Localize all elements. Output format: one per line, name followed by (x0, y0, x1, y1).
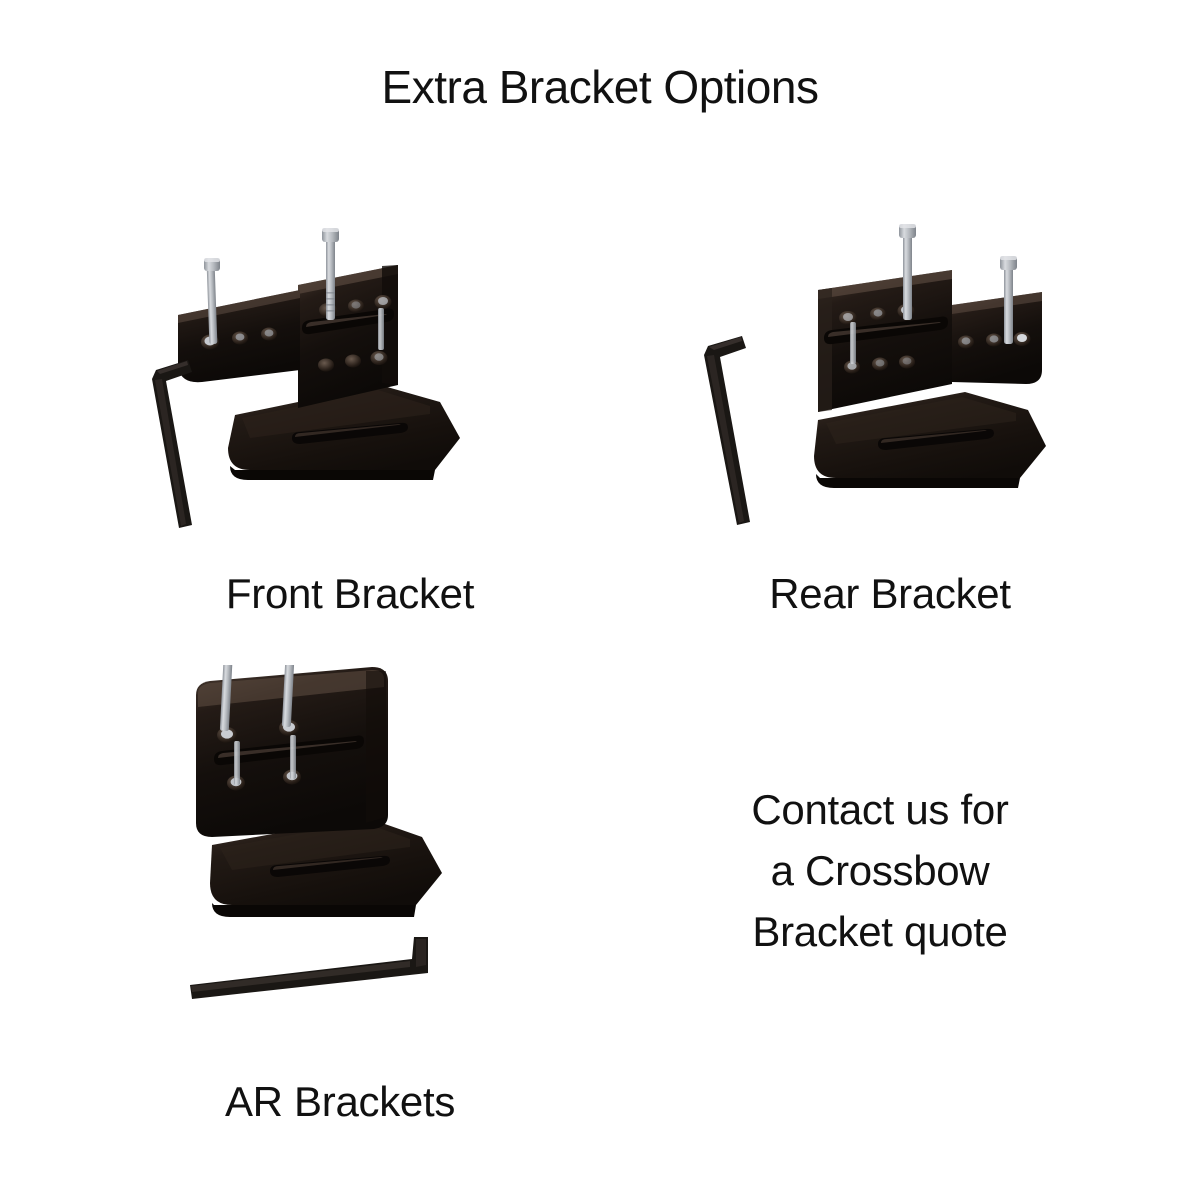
product-image-rear-bracket (690, 170, 1090, 570)
product-image-ar-brackets (160, 665, 520, 1085)
page-title: Extra Bracket Options (0, 62, 1200, 113)
allen-wrench (704, 336, 750, 525)
contact-message: Contact us for a Crossbow Bracket quote (640, 780, 1120, 963)
product-image-canvas: Extra Bracket Options (0, 0, 1200, 1200)
base-plate (228, 385, 460, 480)
base-plate (814, 392, 1046, 488)
allen-wrench (190, 937, 428, 999)
contact-line-2: a Crossbow (640, 841, 1120, 902)
caption-rear-bracket: Rear Bracket (590, 570, 1190, 618)
contact-line-1: Contact us for (640, 780, 1120, 841)
contact-line-3: Bracket quote (640, 902, 1120, 963)
allen-wrench (152, 360, 192, 528)
product-image-front-bracket (130, 170, 530, 570)
bolt-web-inner (378, 308, 384, 350)
caption-ar-brackets: AR Brackets (0, 1078, 680, 1126)
bolt-web-inner (850, 322, 856, 364)
